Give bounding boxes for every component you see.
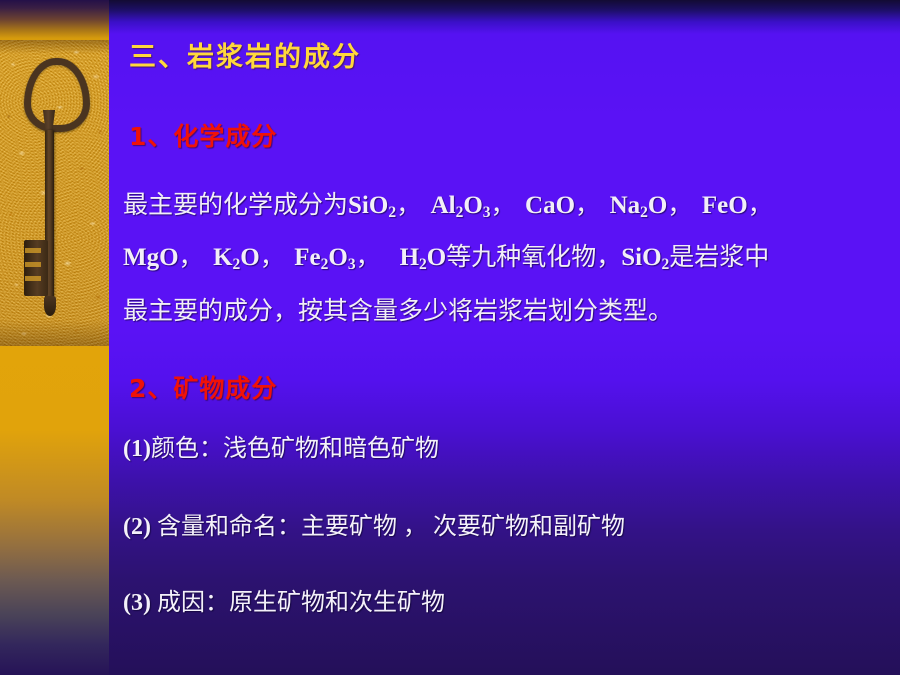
body-line-2-mid: 等九种氧化物， xyxy=(446,244,621,271)
list-item-label: 成因：原生矿物和次生矿物 xyxy=(157,590,445,616)
formula-sio2-second: SiO2 xyxy=(621,244,669,271)
formula-h2o: H2O xyxy=(400,244,447,271)
formula-sio2: SiO2 xyxy=(348,192,396,219)
slide-title: 三、岩浆岩的成分 xyxy=(129,44,361,71)
formula-feo: FeO xyxy=(702,192,748,219)
body-line-3: 最主要的成分，按其含量多少将岩浆岩划分类型。 xyxy=(123,299,673,324)
formula-mgo: MgO xyxy=(123,244,179,271)
formula-k2o: K2O xyxy=(213,244,260,271)
section-heading-chemical-composition: 1、化学成分 xyxy=(129,124,277,149)
list-item: (1)颜色：浅色矿物和暗色矿物 xyxy=(123,437,439,461)
section-heading-mineral-composition: 2、矿物成分 xyxy=(129,376,277,401)
list-item-label: 含量和命名：主要矿物 ， 次要矿物和副矿物 xyxy=(157,514,625,540)
slide-content: 三、岩浆岩的成分 1、化学成分 最主要的化学成分为SiO2，Al2O3，CaO，… xyxy=(109,0,900,675)
formula-al2o3: Al2O3 xyxy=(431,192,491,219)
formula-cao: CaO xyxy=(525,192,575,219)
slide: 三、岩浆岩的成分 1、化学成分 最主要的化学成分为SiO2，Al2O3，CaO，… xyxy=(0,0,900,675)
list-item: (3) 成因：原生矿物和次生矿物 xyxy=(123,591,445,615)
list-item-marker: (1) xyxy=(123,436,151,462)
body-line-1: 最主要的化学成分为SiO2，Al2O3，CaO，Na2O，FeO， xyxy=(123,193,773,218)
sidebar-decoration xyxy=(0,0,109,675)
formula-na2o: Na2O xyxy=(610,192,668,219)
key-photo xyxy=(0,40,109,346)
body-line-1-text: 最主要的化学成分为 xyxy=(123,192,348,219)
body-line-2-post: 是岩浆中 xyxy=(669,244,769,271)
list-item: (2) 含量和命名：主要矿物 ， 次要矿物和副矿物 xyxy=(123,515,625,539)
body-line-2: MgO，K2O，Fe2O3，H2O等九种氧化物，SiO2是岩浆中 xyxy=(123,245,769,270)
list-item-label: 颜色：浅色矿物和暗色矿物 xyxy=(151,436,439,462)
list-item-marker: (2) xyxy=(123,514,151,540)
photo-vignette xyxy=(0,40,109,346)
list-item-marker: (3) xyxy=(123,590,151,616)
formula-fe2o3: Fe2O3 xyxy=(294,244,355,271)
